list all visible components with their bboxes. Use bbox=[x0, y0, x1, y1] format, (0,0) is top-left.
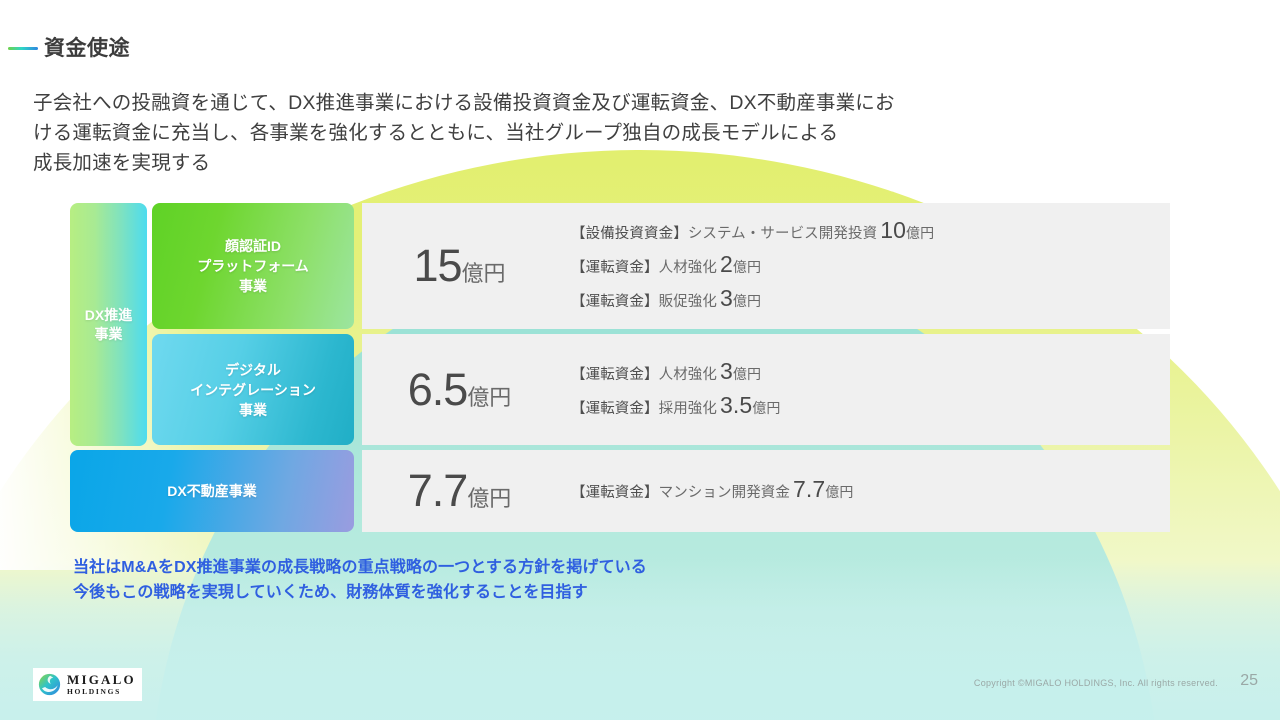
fund-usage-table: DX推進 事業 顔認証ID プラットフォーム 事業 15億円 bbox=[70, 203, 1170, 533]
strategy-note: 当社はM&AをDX推進事業の成長戦略の重点戦略の一つとする方針を掲げている 今後… bbox=[73, 555, 647, 605]
note-line-1: 当社はM&AをDX推進事業の成長戦略の重点戦略の一つとする方針を掲げている bbox=[73, 555, 647, 580]
migalo-swirl-logo-icon bbox=[37, 672, 62, 697]
copyright-text: Copyright ©MIGALO HOLDINGS, Inc. All rig… bbox=[974, 678, 1218, 688]
segment-line-2: インテグレーション bbox=[190, 382, 316, 398]
segment-line-2: プラットフォーム bbox=[197, 258, 309, 274]
row-total-amount: 15億円 bbox=[362, 240, 557, 292]
logo-name: MIGALO bbox=[67, 673, 136, 686]
breakdown-category: 【運転資金】 bbox=[571, 294, 659, 310]
breakdown-number: 7.7 bbox=[790, 476, 825, 502]
note-line-2: 今後もこの戦略を実現していくため、財務体質を強化することを目指す bbox=[73, 580, 647, 605]
logo-wordmark: MIGALO HOLDINGS bbox=[67, 673, 136, 696]
breakdown-number: 3.5 bbox=[717, 392, 752, 418]
breakdown-number: 3 bbox=[717, 358, 733, 384]
breakdown-category: 【運転資金】 bbox=[571, 485, 659, 501]
breakdown-label: 採用強化 bbox=[659, 401, 717, 417]
breakdown-unit: 億円 bbox=[906, 225, 934, 241]
breakdown-item: 【運転資金】マンション開発資金7.7億円 bbox=[571, 474, 1170, 508]
breakdown-label: システム・サービス開発投資 bbox=[688, 226, 877, 242]
lead-paragraph: 子会社への投融資を通じて、DX推進事業における設備投資資金及び運転資金、DX不動… bbox=[33, 88, 1248, 178]
segment-label-digital-integration: デジタル インテグレーション 事業 bbox=[152, 334, 354, 445]
breakdown-category: 【運転資金】 bbox=[571, 401, 659, 417]
segment-label-text: デジタル インテグレーション 事業 bbox=[190, 360, 316, 420]
breakdown-category: 【設備投資資金】 bbox=[571, 226, 688, 242]
breakdown-number: 10 bbox=[877, 217, 906, 243]
amount-unit: 億円 bbox=[462, 261, 506, 286]
breakdown-label: 人材強化 bbox=[659, 367, 717, 383]
amount-number: 7.7 bbox=[408, 465, 468, 516]
breakdown-item: 【運転資金】販促強化3億円 bbox=[571, 283, 1170, 317]
breakdown-label: マンション開発資金 bbox=[659, 485, 790, 501]
amount-number: 6.5 bbox=[408, 364, 468, 415]
segment-label-dx-real-estate: DX不動産事業 bbox=[70, 450, 354, 532]
breakdown-unit: 億円 bbox=[825, 484, 853, 500]
row-detail-panel: 6.5億円 【運転資金】人材強化3億円 【運転資金】採用強化3.5億円 bbox=[362, 334, 1170, 445]
breakdown-item: 【設備投資資金】システム・サービス開発投資10億円 bbox=[571, 215, 1170, 249]
company-logo: MIGALO HOLDINGS bbox=[33, 668, 142, 701]
segment-line-1: 顔認証ID bbox=[225, 238, 281, 254]
segment-line-3: 事業 bbox=[239, 278, 267, 294]
lead-line-3: 成長加速を実現する bbox=[33, 148, 1248, 178]
row-breakdown-list: 【運転資金】マンション開発資金7.7億円 bbox=[557, 474, 1170, 508]
row-breakdown-list: 【運転資金】人材強化3億円 【運転資金】採用強化3.5億円 bbox=[557, 356, 1170, 424]
table-row: 顔認証ID プラットフォーム 事業 15億円 【設備投資資金】システム・サービス… bbox=[70, 203, 1170, 329]
title-accent-line bbox=[8, 47, 38, 50]
amount-unit: 億円 bbox=[467, 385, 511, 410]
row-detail-panel: 15億円 【設備投資資金】システム・サービス開発投資10億円 【運転資金】人材強… bbox=[362, 203, 1170, 329]
table-row: DX不動産事業 7.7億円 【運転資金】マンション開発資金7.7億円 bbox=[70, 450, 1170, 532]
breakdown-unit: 億円 bbox=[733, 293, 761, 309]
breakdown-item: 【運転資金】人材強化2億円 bbox=[571, 249, 1170, 283]
breakdown-category: 【運転資金】 bbox=[571, 260, 659, 276]
row-detail-panel: 7.7億円 【運転資金】マンション開発資金7.7億円 bbox=[362, 450, 1170, 532]
breakdown-unit: 億円 bbox=[752, 400, 780, 416]
breakdown-item: 【運転資金】人材強化3億円 bbox=[571, 356, 1170, 390]
logo-subtitle: HOLDINGS bbox=[67, 688, 136, 696]
breakdown-label: 人材強化 bbox=[659, 260, 717, 276]
row-total-amount: 6.5億円 bbox=[362, 364, 557, 416]
segment-line-3: 事業 bbox=[239, 402, 267, 418]
row-breakdown-list: 【設備投資資金】システム・サービス開発投資10億円 【運転資金】人材強化2億円 … bbox=[557, 215, 1170, 317]
breakdown-number: 3 bbox=[717, 285, 733, 311]
row-total-amount: 7.7億円 bbox=[362, 465, 557, 517]
page-number: 25 bbox=[1240, 672, 1258, 690]
amount-number: 15 bbox=[413, 240, 461, 291]
lead-line-1: 子会社への投融資を通じて、DX推進事業における設備投資資金及び運転資金、DX不動… bbox=[33, 88, 1248, 118]
amount-unit: 億円 bbox=[467, 486, 511, 511]
breakdown-unit: 億円 bbox=[733, 366, 761, 382]
breakdown-item: 【運転資金】採用強化3.5億円 bbox=[571, 390, 1170, 424]
segment-label-face-auth-id: 顔認証ID プラットフォーム 事業 bbox=[152, 203, 354, 329]
breakdown-unit: 億円 bbox=[733, 259, 761, 275]
breakdown-number: 2 bbox=[717, 251, 733, 277]
slide-canvas: 資金使途 子会社への投融資を通じて、DX推進事業における設備投資資金及び運転資金… bbox=[0, 0, 1280, 720]
segment-label-text: DX不動産事業 bbox=[167, 481, 256, 501]
breakdown-label: 販促強化 bbox=[659, 294, 717, 310]
segment-label-text: 顔認証ID プラットフォーム 事業 bbox=[197, 236, 309, 296]
breakdown-category: 【運転資金】 bbox=[571, 367, 659, 383]
table-row: デジタル インテグレーション 事業 6.5億円 【運転資金】人材強化3億円 bbox=[70, 334, 1170, 445]
lead-line-2: ける運転資金に充当し、各事業を強化するとともに、当社グループ独自の成長モデルによ… bbox=[33, 118, 1248, 148]
segment-line-1: デジタル bbox=[225, 362, 281, 378]
page-title: 資金使途 bbox=[44, 32, 130, 62]
